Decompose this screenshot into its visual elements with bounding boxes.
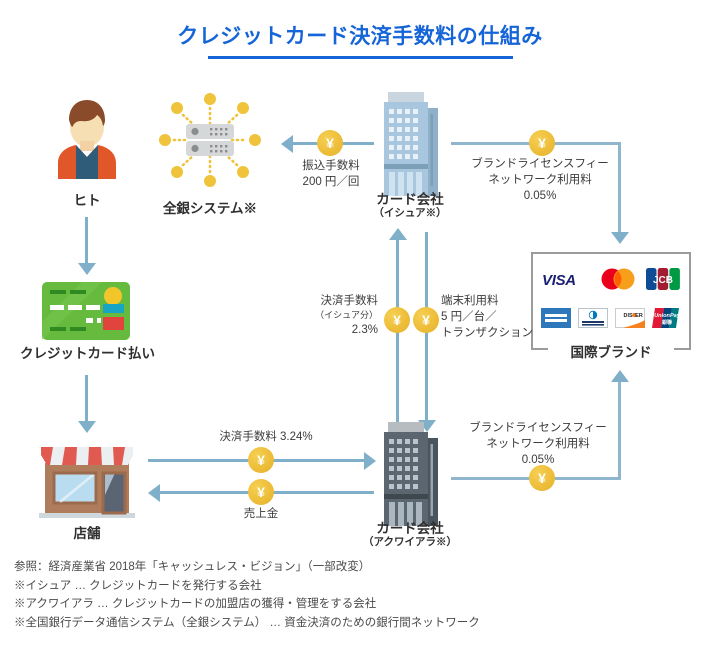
arrowhead-transfer-fee (281, 135, 293, 153)
connector-settlement-issuer (396, 240, 399, 432)
brand-logo-row-1: VISA JCB (533, 268, 689, 290)
coin-settlement-issuer: ¥ (384, 307, 410, 333)
node-sublabel-issuer: （イシュア※） (355, 207, 465, 221)
fee-terminal-line3: トランザクション (441, 325, 551, 341)
fee-brandfee-top-line2: ネットワーク利用料 (460, 172, 620, 188)
fee-brand-license-bottom: ブランドライセンスフィー ネットワーク利用料 0.05% (458, 420, 618, 468)
fee-brandfee-bottom-line1: ブランドライセンスフィー (458, 420, 618, 436)
fee-settlement-issuer: 決済手数料 （イシュア分） 2.3% (292, 293, 378, 338)
page-title-text: クレジットカード決済手数料の仕組み (0, 24, 720, 49)
fee-settlement-issuer-line1: 決済手数料 (292, 293, 378, 309)
discover-logo-icon: DISC ER (615, 308, 645, 328)
arrowhead-person-card (78, 263, 96, 275)
fee-transfer-line1: 振込手数料 (272, 158, 390, 174)
coin-sales-proceeds: ¥ (248, 479, 274, 505)
fee-settlement-issuer-line3: 2.3% (292, 322, 378, 338)
person-icon (52, 95, 122, 184)
fee-brandfee-bottom-line2: ネットワーク利用料 (458, 436, 618, 452)
connector-person-card (85, 217, 88, 265)
arrowhead-card-store (78, 421, 96, 433)
jcb-logo-icon: JCB (646, 268, 680, 290)
coin-brandfee-bottom: ¥ (529, 465, 555, 491)
node-label-store: 店舗 (35, 525, 139, 543)
server-network-icon (158, 92, 262, 193)
footnote-source: 参照：経済産業省 2018年「キャッシュレス・ビジョン」（一部改変） (14, 558, 704, 577)
page-title: クレジットカード決済手数料の仕組み (0, 24, 720, 59)
node-sublabel-acquirer: （アクワイアラ※） (350, 536, 470, 550)
international-brands-box: VISA JCB (531, 252, 691, 350)
title-underline (208, 56, 513, 59)
svg-text:銀聯: 銀聯 (661, 319, 671, 326)
connector-brandfee-bottom-v (618, 382, 621, 479)
coin-terminal-fee: ¥ (413, 307, 439, 333)
coin-brandfee-top: ¥ (529, 130, 555, 156)
building-icon-acquirer (378, 422, 442, 531)
brand-logo-row-2: DISC ER UnionPay 銀聯 (533, 308, 689, 328)
svg-text:JCB: JCB (653, 275, 673, 286)
fee-terminal: 端末利用料 5 円／台／ トランザクション (441, 293, 551, 341)
svg-text:VISA: VISA (542, 272, 576, 288)
diners-club-logo-icon (578, 308, 608, 328)
fee-terminal-line2: 5 円／台／ (441, 309, 551, 325)
fee-terminal-line1: 端末利用料 (441, 293, 551, 309)
node-label-person: ヒト (22, 192, 152, 210)
diagram-canvas: クレジットカード決済手数料の仕組み ヒト (0, 0, 720, 646)
connector-card-store (85, 375, 88, 423)
coin-transfer-fee: ¥ (317, 130, 343, 156)
footnote-issuer: ※イシュア … クレジットカードを発行する会社 (14, 577, 704, 596)
store-icon (35, 437, 139, 526)
building-icon-issuer (378, 92, 442, 201)
unionpay-logo-icon: UnionPay 銀聯 (652, 308, 682, 328)
fee-brandfee-bottom-line3: 0.05% (458, 452, 618, 468)
svg-text:ER: ER (635, 313, 643, 319)
footnotes: 参照：経済産業省 2018年「キャッシュレス・ビジョン」（一部改変） ※イシュア… (14, 558, 704, 633)
fee-sales-proceeds: 売上金 (206, 506, 316, 522)
footnote-acquirer: ※アクワイアラ … クレジットカードの加盟店の獲得・管理をする会社 (14, 595, 704, 614)
arrowhead-settlement-issuer (389, 228, 407, 240)
footnote-zengin: ※全国銀行データ通信システム（全銀システム） … 資金決済のための銀行間ネットワ… (14, 614, 704, 633)
arrowhead-settlement-merchant (364, 452, 376, 470)
arrowhead-brandfee-top (611, 232, 629, 244)
fee-transfer-line2: 200 円／回 (272, 174, 390, 190)
svg-text:UnionPay: UnionPay (654, 313, 681, 319)
node-label-zengin: 全銀システム※ (150, 200, 270, 218)
node-label-credit-card: クレジットカード払い (5, 345, 170, 363)
coin-settlement-merchant: ¥ (248, 447, 274, 473)
visa-logo-icon: VISA (542, 271, 590, 288)
fee-transfer: 振込手数料 200 円／回 (272, 158, 390, 190)
fee-brandfee-top-line3: 0.05% (460, 188, 620, 204)
mastercard-logo-icon (601, 268, 635, 290)
node-label-brands: 国際ブランド (548, 340, 674, 362)
arrowhead-brandfee-bottom (611, 370, 629, 382)
fee-settlement-merchant: 決済手数料 3.24% (186, 429, 346, 445)
arrowhead-sales-proceeds (148, 484, 160, 502)
credit-card-icon (42, 282, 130, 345)
fee-brand-license-top: ブランドライセンスフィー ネットワーク利用料 0.05% (460, 156, 620, 204)
fee-settlement-issuer-line2: （イシュア分） (292, 309, 378, 322)
fee-brandfee-top-line1: ブランドライセンスフィー (460, 156, 620, 172)
